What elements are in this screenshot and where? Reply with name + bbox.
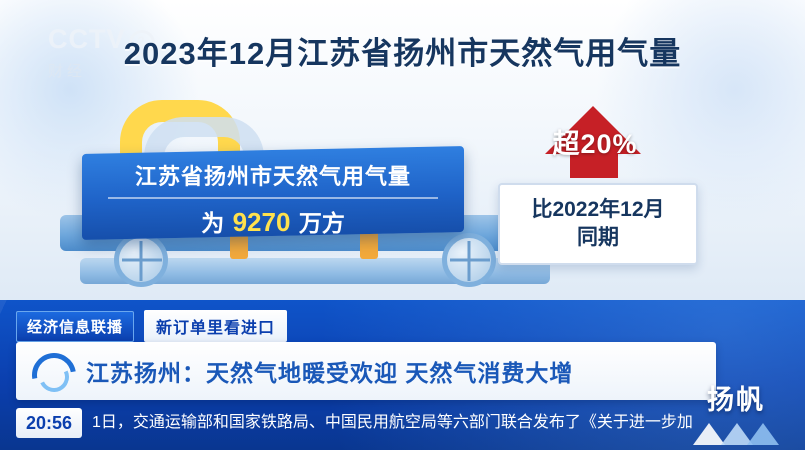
banner-value-unit: 万方 xyxy=(299,210,345,236)
station-logo: 扬帆 xyxy=(681,378,791,442)
topic-tag: 新订单里看进口 xyxy=(144,310,287,342)
arrow-percent: 20% xyxy=(580,129,637,159)
tv-screenshot: CCTV2 财经 2023年12月江苏省扬州市天然气用气量 江苏省扬州市天然气用… xyxy=(0,0,805,450)
banner-value-number: 9270 xyxy=(231,207,293,237)
banner-value-prefix: 为 xyxy=(201,210,224,236)
sail-wave-icon xyxy=(681,419,791,445)
news-headline: 江苏扬州：天然气地暖受欢迎 天然气消费大增 xyxy=(80,354,573,388)
value-banner: 江苏省扬州市天然气用气量 为 9270 万方 xyxy=(82,146,464,240)
comparison-box: 比2022年12月 同期 xyxy=(498,183,698,265)
comparison-line-2: 同期 xyxy=(577,224,619,252)
program-tag: 经济信息联播 xyxy=(16,311,134,342)
station-logo-text: 扬帆 xyxy=(681,378,791,417)
valve-wheel-right-icon xyxy=(442,233,496,287)
banner-title: 江苏省扬州市天然气用气量 xyxy=(82,159,464,191)
valve-wheel-left-icon xyxy=(114,233,168,287)
news-title-bar: 江苏扬州：天然气地暖受欢迎 天然气消费大增 xyxy=(16,342,716,400)
tag-row: 经济信息联播 新订单里看进口 xyxy=(16,310,287,342)
arrow-prefix: 超 xyxy=(552,129,580,159)
swoosh-icon xyxy=(24,349,80,393)
banner-divider xyxy=(108,197,438,199)
comparison-line-1: 比2022年12月 xyxy=(531,196,664,224)
arrow-label: 超20% xyxy=(500,122,690,161)
growth-arrow: 超20% xyxy=(500,106,690,172)
news-ticker: 1日，交通运输部和国家铁路局、中国民用航空局等六部门联合发布了《关于进一步加强…… xyxy=(92,410,692,436)
banner-value: 为 9270 万方 xyxy=(82,204,464,238)
page-title: 2023年12月江苏省扬州市天然气用气量 xyxy=(0,28,805,73)
lower-third-band: 经济信息联播 新订单里看进口 江苏扬州：天然气地暖受欢迎 天然气消费大增 20:… xyxy=(0,300,805,450)
clock-display: 20:56 xyxy=(16,408,82,438)
infographic-panel: CCTV2 财经 2023年12月江苏省扬州市天然气用气量 江苏省扬州市天然气用… xyxy=(0,0,805,300)
